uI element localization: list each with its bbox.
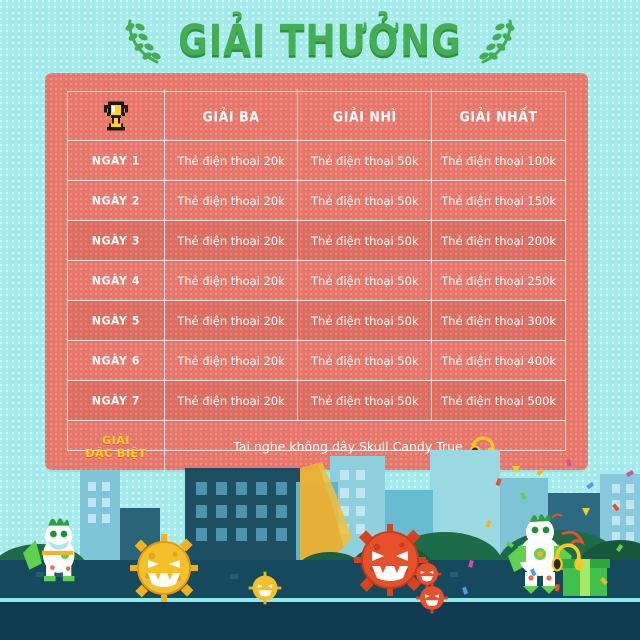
prize-table: GIẢI BA GIẢI NHÌ GIẢI NHẤT NGÀY 1 Thẻ đi… (67, 91, 566, 451)
row-day-label: NGÀY 1 (68, 139, 164, 181)
row-day-label: NGÀY 3 (68, 219, 164, 261)
prize-cell-third: Thẻ điện thoại 20k (164, 261, 298, 300)
laurel-left-icon (124, 18, 164, 64)
table-row: NGÀY 7 Thẻ điện thoại 20k Thẻ điện thoại… (68, 380, 565, 420)
prize-cell-third: Thẻ điện thoại 20k (164, 381, 298, 420)
trophy-cell (68, 90, 164, 143)
prize-panel: GIẢI BA GIẢI NHÌ GIẢI NHẤT NGÀY 1 Thẻ đi… (45, 73, 588, 470)
row-day-label: NGÀY 6 (68, 339, 164, 381)
laurel-right-icon (476, 18, 516, 64)
prize-cell-third: Thẻ điện thoại 20k (164, 341, 298, 380)
prize-cell-second: Thẻ điện thoại 50k (297, 381, 431, 420)
prize-cell-second: Thẻ điện thoại 50k (297, 261, 431, 300)
prize-cell-third: Thẻ điện thoại 20k (164, 181, 298, 220)
prize-cell-first: Thẻ điện thoại 100k (431, 141, 565, 180)
title-block: GIẢI THƯỞNG (0, 12, 640, 70)
column-header-first-prize: GIẢI NHẤT (431, 90, 565, 143)
prize-cell-first: Thẻ điện thoại 300k (431, 301, 565, 340)
row-day-label: NGÀY 4 (68, 259, 164, 301)
table-row: NGÀY 3 Thẻ điện thoại 20k Thẻ điện thoại… (68, 220, 565, 260)
prize-cell-first: Thẻ điện thoại 400k (431, 341, 565, 380)
prize-cell-first: Thẻ điện thoại 150k (431, 181, 565, 220)
prize-cell-first: Thẻ điện thoại 500k (431, 381, 565, 420)
prize-cell-second: Thẻ điện thoại 50k (297, 221, 431, 260)
prize-cell-third: Thẻ điện thoại 20k (164, 141, 298, 180)
row-day-label: NGÀY 2 (68, 179, 164, 221)
table-row: NGÀY 1 Thẻ điện thoại 20k Thẻ điện thoại… (68, 140, 565, 180)
row-day-label: NGÀY 5 (68, 299, 164, 341)
table-row: NGÀY 5 Thẻ điện thoại 20k Thẻ điện thoại… (68, 300, 565, 340)
virus-monster-red-large (354, 524, 426, 596)
page-title: GIẢI THƯỞNG (178, 17, 462, 65)
special-prize-label-line1: GIẢI (102, 434, 130, 447)
table-row: NGÀY 6 Thẻ điện thoại 20k Thẻ điện thoại… (68, 340, 565, 380)
prize-cell-second: Thẻ điện thoại 50k (297, 301, 431, 340)
prize-cell-third: Thẻ điện thoại 20k (164, 301, 298, 340)
table-row: NGÀY 2 Thẻ điện thoại 20k Thẻ điện thoại… (68, 180, 565, 220)
row-day-label: NGÀY 7 (68, 379, 164, 421)
poster-stage: GIẢI THƯỞNG (0, 0, 640, 640)
prize-cell-third: Thẻ điện thoại 20k (164, 221, 298, 260)
prize-cell-second: Thẻ điện thoại 50k (297, 141, 431, 180)
scene-graphics (0, 448, 640, 640)
prize-cell-second: Thẻ điện thoại 50k (297, 181, 431, 220)
virus-monster-yellow-large (130, 534, 198, 602)
trophy-icon (101, 98, 131, 133)
table-header-row: GIẢI BA GIẢI NHÌ GIẢI NHẤT (68, 92, 565, 140)
column-header-third-prize: GIẢI BA (164, 90, 298, 143)
table-row: NGÀY 4 Thẻ điện thoại 20k Thẻ điện thoại… (68, 260, 565, 300)
city-illustration (0, 448, 640, 640)
prize-cell-first: Thẻ điện thoại 200k (431, 221, 565, 260)
prize-cell-second: Thẻ điện thoại 50k (297, 341, 431, 380)
column-header-second-prize: GIẢI NHÌ (297, 90, 431, 143)
prize-cell-first: Thẻ điện thoại 250k (431, 261, 565, 300)
